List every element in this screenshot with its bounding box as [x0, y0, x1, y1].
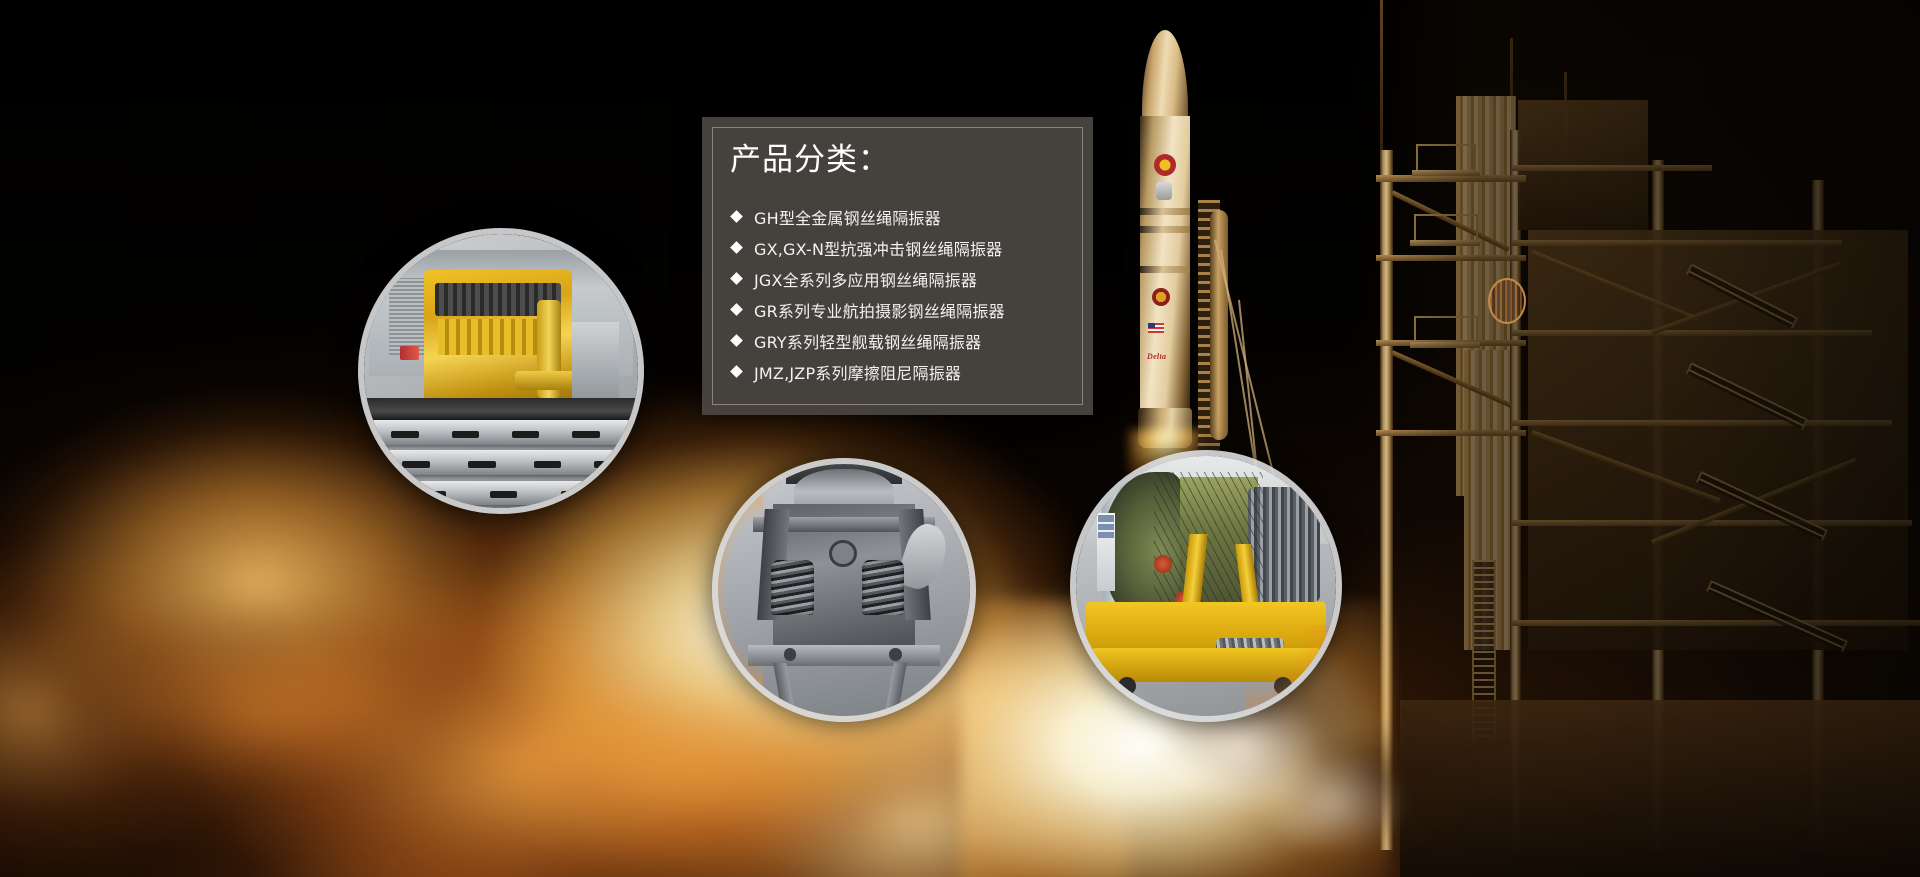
list-item[interactable]: GX,GX-N型抗强冲击钢丝绳隔振器	[732, 232, 1077, 263]
umbilical-duct	[1210, 210, 1228, 440]
list-item[interactable]: JGX全系列多应用钢丝绳隔振器	[732, 263, 1077, 294]
rocket-secondary-patch	[1152, 288, 1170, 306]
radiator-grille	[389, 278, 425, 355]
rocket: Delta	[1128, 30, 1202, 450]
product-category-panel: 产品分类： GH型全金属钢丝绳隔振器 GX,GX-N型抗强冲击钢丝绳隔振器 JG…	[702, 117, 1093, 415]
list-item-label: JGX全系列多应用钢丝绳隔振器	[754, 267, 977, 291]
diamond-bullet-icon	[730, 303, 743, 316]
rocket-logo-text: Delta	[1147, 352, 1166, 361]
panel-title: 产品分类：	[730, 143, 890, 177]
diamond-bullet-icon	[730, 272, 743, 285]
rocket-mission-patch	[1154, 154, 1176, 176]
list-item-label: GX,GX-N型抗强冲击钢丝绳隔振器	[754, 236, 1002, 260]
list-item-label: JMZ,JZP系列摩擦阻尼隔振器	[754, 360, 961, 384]
base-bolt-right	[889, 648, 902, 661]
banner-stage: Delta	[0, 0, 1920, 877]
list-item-label: GH型全金属钢丝绳隔振器	[754, 205, 941, 229]
base-bolt-left	[784, 648, 797, 661]
cart-wheel-left	[1118, 677, 1136, 695]
usa-flag-icon	[1148, 323, 1164, 333]
isolator-row-2	[364, 450, 638, 475]
rocket-agency-badge	[1156, 182, 1172, 200]
red-component	[400, 346, 419, 360]
list-item-label: GRY系列轻型舰载钢丝绳隔振器	[754, 329, 981, 353]
diamond-bullet-icon	[730, 365, 743, 378]
red-valve-1	[1154, 555, 1172, 573]
tower-sphere-icon	[1488, 278, 1526, 324]
list-item-label: GR系列专业航拍摄影钢丝绳隔振器	[754, 298, 1005, 322]
diamond-bullet-icon	[730, 210, 743, 223]
launcher-pivot-hub	[829, 540, 857, 568]
photo-inner-3	[1076, 456, 1336, 716]
rocket-band-3	[1140, 266, 1190, 273]
photo-circle-turbine-engine[interactable]	[1070, 450, 1342, 722]
control-cabinet	[572, 322, 619, 399]
engine-skid-frame	[364, 398, 638, 420]
rocket-nose-cone	[1142, 30, 1188, 122]
flame-reflection-3	[1245, 625, 1336, 716]
diamond-bullet-icon	[730, 334, 743, 347]
photo-inner-2	[718, 464, 970, 716]
photo-inner-1	[364, 234, 638, 508]
list-item[interactable]: JMZ,JZP系列摩擦阻尼隔振器	[732, 356, 1077, 387]
isolator-row-1	[364, 420, 638, 445]
photo-circle-diesel-generator[interactable]	[358, 228, 644, 514]
rocket-band-1	[1140, 208, 1190, 215]
wire-rope-isolator-left	[771, 560, 814, 615]
diamond-bullet-icon	[730, 241, 743, 254]
flame-reflection-2	[718, 464, 763, 716]
isolator-row-3	[364, 481, 638, 506]
product-category-list: GH型全金属钢丝绳隔振器 GX,GX-N型抗强冲击钢丝绳隔振器 JGX全系列多应…	[732, 201, 1077, 387]
placard	[1097, 513, 1115, 591]
list-item[interactable]: GH型全金属钢丝绳隔振器	[732, 201, 1077, 232]
wire-rope-isolator-right	[862, 560, 905, 615]
intake-pipe	[515, 371, 575, 390]
list-item[interactable]: GR系列专业航拍摄影钢丝绳隔振器	[732, 294, 1077, 325]
list-item[interactable]: GRY系列轻型舰载钢丝绳隔振器	[732, 325, 1077, 356]
rocket-band-2	[1140, 226, 1190, 233]
photo-circle-wire-rope-isolator-launcher[interactable]	[712, 458, 976, 722]
